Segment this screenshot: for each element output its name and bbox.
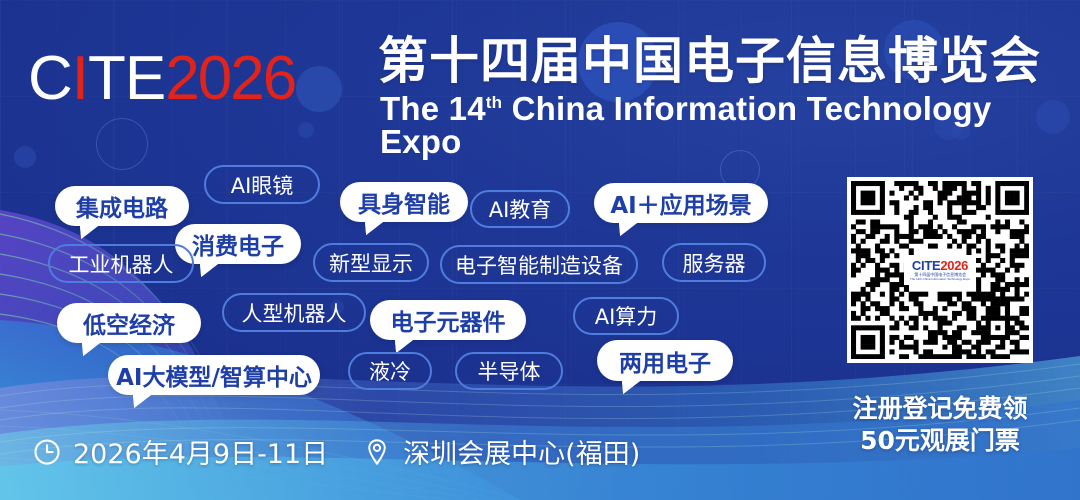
qr-center-logo: CITE2026 第十四届中国电子信息博览会 The 14th China In… [904, 255, 976, 285]
logo-letters-te: TE [88, 44, 165, 113]
qr-caption-line2: 50元观展门票 [828, 425, 1052, 457]
qr-logo-year: 2026 [940, 258, 968, 273]
topic-tag[interactable]: AI算力 [573, 297, 679, 335]
qr-logo-subtitle-cn: 第十四届中国电子信息博览会 [914, 273, 966, 277]
topic-tag[interactable]: AI教育 [470, 190, 570, 228]
topic-tag-label: 具身智能 [358, 185, 450, 219]
topic-tag[interactable]: 新型显示 [313, 243, 429, 282]
topic-tag-label: 半导体 [478, 356, 541, 386]
topic-tag-label: 服务器 [683, 248, 746, 278]
qr-code[interactable]: CITE2026 第十四届中国电子信息博览会 The 14th China In… [847, 177, 1033, 363]
topic-tag-label: 人型机器人 [242, 298, 347, 328]
topic-tag[interactable]: AI眼镜 [204, 165, 320, 204]
qr-caption: 注册登记免费领 50元观展门票 [828, 393, 1052, 457]
qr-code-matrix: CITE2026 第十四届中国电子信息博览会 The 14th China In… [851, 181, 1029, 359]
topic-tag-label: 液冷 [369, 356, 411, 386]
qr-logo-subtitle-en: The 14th China Information Technology Ex… [910, 278, 970, 281]
logo-letter-c: C [28, 44, 72, 113]
event-info: 2026年4月9日-11日 深圳会展中心(福田) [32, 432, 640, 471]
topic-tag[interactable]: 液冷 [348, 352, 432, 390]
cite-logo: CITE2026 [28, 48, 295, 110]
event-date: 2026年4月9日-11日 [32, 432, 328, 471]
topic-tag[interactable]: 集成电路 [55, 186, 189, 226]
topic-tag-label: 电子智能制造设备 [455, 250, 623, 280]
topic-tag[interactable]: AI大模型/智算中心 [108, 355, 320, 395]
topic-tag[interactable]: 服务器 [662, 243, 766, 282]
topic-tag-label: AI大模型/智算中心 [116, 358, 312, 392]
topic-tag[interactable]: 人型机器人 [222, 293, 366, 332]
topic-tag-label: AI算力 [595, 301, 658, 331]
topic-tag-label: 电子元器件 [391, 303, 506, 337]
topic-tag-label: AI教育 [489, 194, 552, 224]
topic-tag[interactable]: 两用电子 [597, 340, 733, 381]
event-venue: 深圳会展中心(福田) [362, 432, 640, 471]
topic-tag[interactable]: AI＋应用场景 [594, 183, 768, 223]
topic-tag[interactable]: 半导体 [455, 352, 563, 390]
topic-tag[interactable]: 具身智能 [340, 182, 468, 222]
clock-icon [32, 437, 62, 467]
topic-tag-label: 工业机器人 [69, 249, 174, 279]
event-venue-text: 深圳会展中心(福田) [403, 432, 640, 471]
event-date-text: 2026年4月9日-11日 [73, 432, 328, 471]
page-title-chinese: 第十四届中国电子信息博览会 [378, 36, 1041, 86]
topic-tag[interactable]: 消费电子 [175, 224, 301, 264]
topic-tag-label: 低空经济 [83, 306, 175, 340]
topic-tag-label: 新型显示 [329, 248, 413, 278]
topic-tag[interactable]: 低空经济 [57, 303, 201, 343]
location-pin-icon [362, 437, 392, 467]
page-title-english: The 14th China Information Technology Ex… [380, 92, 1080, 158]
topic-tag-label: 集成电路 [76, 189, 168, 223]
topic-tag[interactable]: 工业机器人 [48, 244, 194, 283]
cite-2026-banner: CITE2026 第十四届中国电子信息博览会 The 14th China In… [0, 0, 1080, 500]
title-en-prefix: The 14 [380, 90, 486, 127]
title-en-ordinal: th [486, 93, 502, 112]
topic-tag-label: AI眼镜 [231, 170, 294, 200]
topic-tag-label: 消费电子 [192, 227, 284, 261]
topic-tag[interactable]: 电子智能制造设备 [440, 245, 638, 284]
qr-caption-line1: 注册登记免费领 [828, 393, 1052, 425]
topic-tag[interactable]: 电子元器件 [370, 300, 526, 340]
topic-tag-label: AI＋应用场景 [610, 186, 751, 220]
logo-year: 2026 [165, 44, 295, 113]
qr-logo-cite: CITE [912, 258, 940, 273]
logo-letter-i: I [72, 44, 88, 113]
topic-tag-label: 两用电子 [619, 344, 711, 378]
